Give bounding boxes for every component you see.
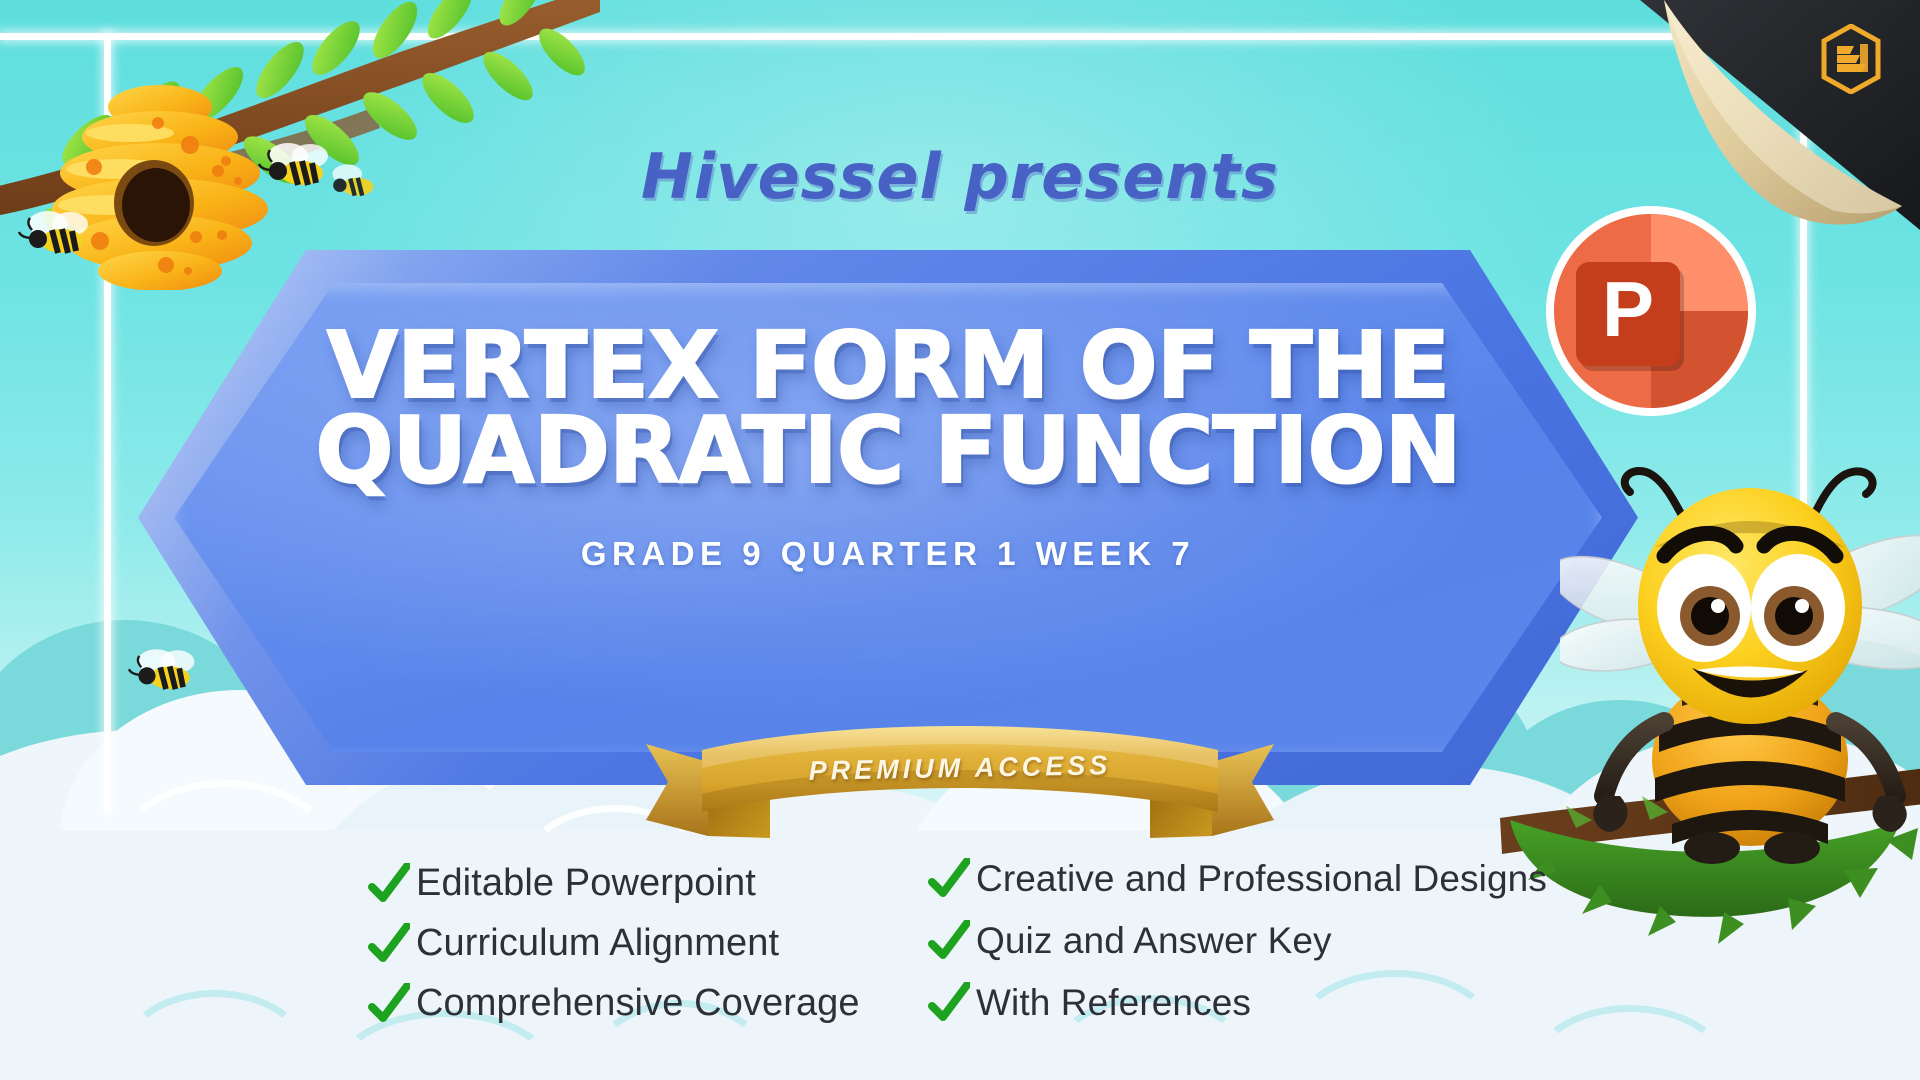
- hivessel-hexagon-logo: [1820, 24, 1882, 94]
- bee-mascot-icon: [1560, 430, 1920, 880]
- check-icon: [368, 923, 410, 965]
- feature-list: Editable Powerpoint Curriculum Alignment…: [0, 862, 1920, 1062]
- list-item: With References: [928, 982, 1547, 1024]
- feature-label: With References: [976, 982, 1251, 1024]
- list-item: Editable Powerpoint: [368, 862, 860, 905]
- list-item: Curriculum Alignment: [368, 922, 860, 965]
- poster-canvas: VERTEX FORM OF THE QUADRATIC FUNCTION GR…: [0, 0, 1920, 1080]
- feature-label: Curriculum Alignment: [416, 922, 779, 965]
- grade-subtitle: GRADE 9 QUARTER 1 WEEK 7: [138, 535, 1638, 573]
- feature-label: Editable Powerpoint: [416, 862, 756, 905]
- list-item: Creative and Professional Designs: [928, 858, 1547, 900]
- feature-column-left: Editable Powerpoint Curriculum Alignment…: [368, 862, 860, 1042]
- mini-bee-icon: [18, 208, 96, 264]
- list-item: Quiz and Answer Key: [928, 920, 1547, 962]
- premium-ribbon: [640, 716, 1280, 846]
- check-icon: [368, 983, 410, 1025]
- banner-content: VERTEX FORM OF THE QUADRATIC FUNCTION GR…: [138, 324, 1638, 573]
- check-icon: [928, 858, 970, 900]
- check-icon: [368, 863, 410, 905]
- feature-column-right: Creative and Professional Designs Quiz a…: [928, 858, 1547, 1044]
- feature-label: Comprehensive Coverage: [416, 982, 860, 1025]
- powerpoint-icon: P: [1542, 202, 1760, 420]
- check-icon: [928, 920, 970, 962]
- title-banner: VERTEX FORM OF THE QUADRATIC FUNCTION GR…: [138, 250, 1638, 785]
- title-line-2: QUADRATIC FUNCTION: [208, 409, 1568, 494]
- feature-label: Creative and Professional Designs: [976, 858, 1547, 900]
- list-item: Comprehensive Coverage: [368, 982, 860, 1025]
- page-title: VERTEX FORM OF THE QUADRATIC FUNCTION: [138, 324, 1638, 493]
- powerpoint-letter: P: [1602, 265, 1654, 353]
- check-icon: [928, 982, 970, 1024]
- feature-label: Quiz and Answer Key: [976, 920, 1332, 962]
